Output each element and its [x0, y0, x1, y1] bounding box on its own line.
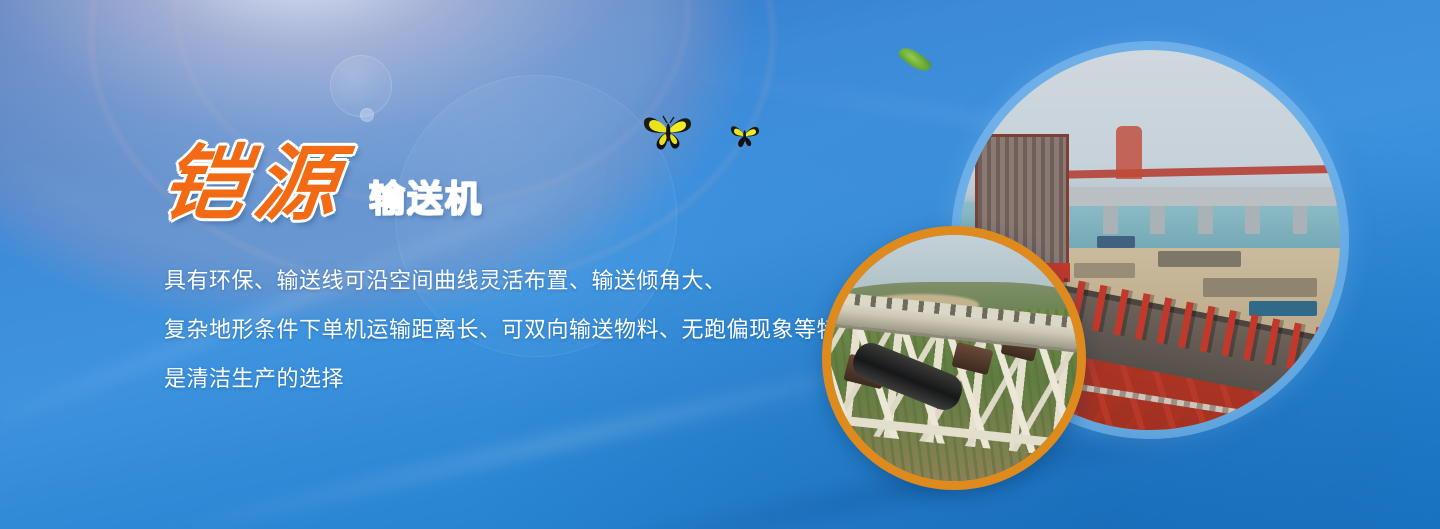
- yard-debris-4: [1097, 236, 1135, 247]
- truss-conveyor-photo: [822, 226, 1086, 490]
- product-banner: 铠源 输送机 具有环保、输送线可沿空间曲线灵活布置、输送倾角大、 复杂地形条件下…: [0, 0, 1440, 529]
- ship-loader-tower: [1116, 126, 1142, 179]
- yard-debris-5: [1249, 301, 1317, 316]
- yard-debris-3: [1203, 278, 1317, 297]
- banner-description: 具有环保、输送线可沿空间曲线灵活布置、输送倾角大、 复杂地形条件下单机运输距离长…: [164, 256, 884, 403]
- yard-debris-1: [1074, 263, 1135, 278]
- product-name: 输送机: [369, 181, 483, 217]
- description-line-1: 具有环保、输送线可沿空间曲线灵活布置、输送倾角大、: [164, 256, 884, 305]
- ship-loader-boom: [1055, 165, 1329, 179]
- leaf-icon: [897, 43, 933, 76]
- butterfly-icon-small: [729, 123, 761, 154]
- pier-structure: [1044, 187, 1340, 206]
- bubble-decoration-2: [360, 108, 374, 122]
- yard-debris-2: [1158, 251, 1242, 266]
- truss-conveyor-scene: [831, 235, 1077, 481]
- brand-name: 铠源: [158, 144, 352, 226]
- description-line-3: 是清洁生产的选择: [164, 354, 884, 403]
- bubble-decoration-1: [330, 55, 392, 117]
- butterfly-icon-large: [641, 112, 697, 159]
- description-line-2: 复杂地形条件下单机运输距离长、可双向输送物料、无跑偏现象等特点，: [164, 305, 884, 354]
- banner-title: 铠源 输送机: [163, 144, 483, 226]
